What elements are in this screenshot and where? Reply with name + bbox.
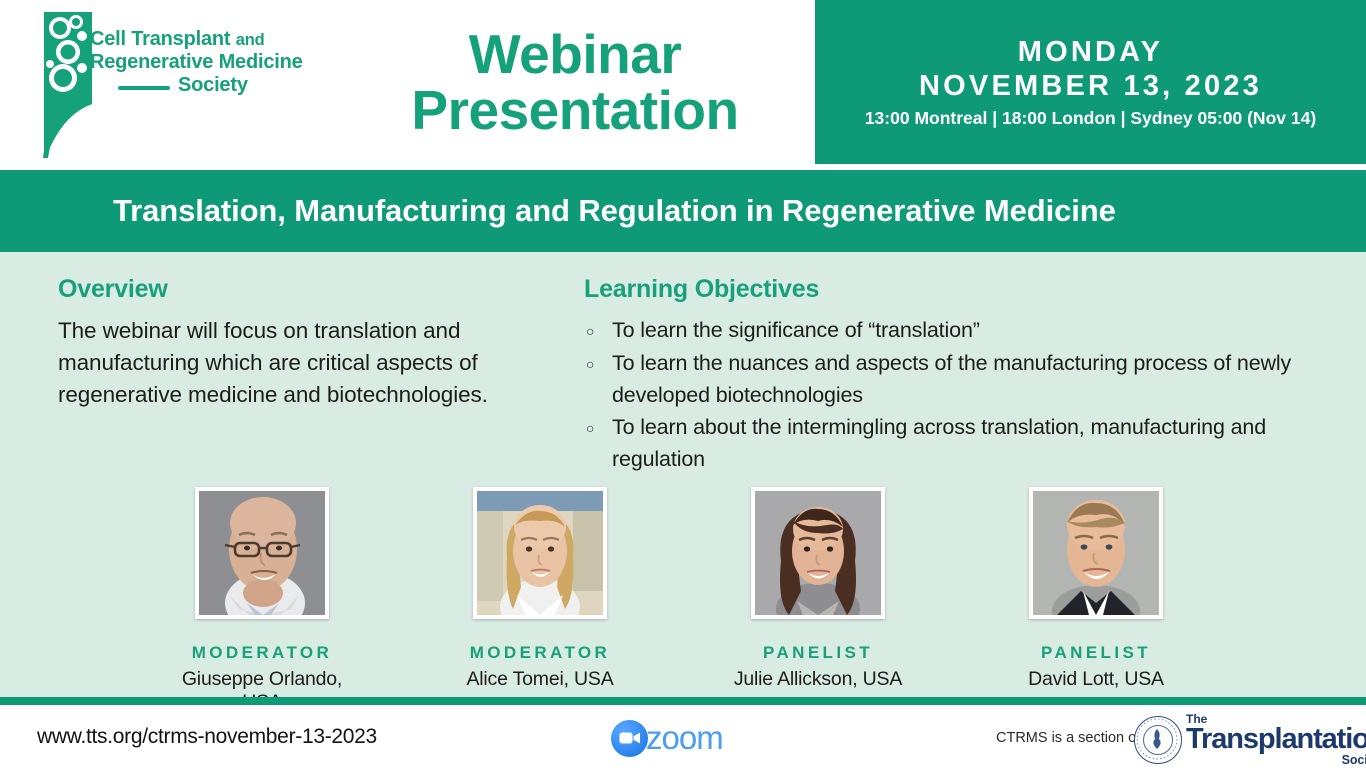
objectives-heading: Learning Objectives — [584, 275, 1324, 304]
speaker-name: Julie Allickson, USA — [723, 668, 913, 691]
tts-society-label: Society — [1186, 754, 1366, 767]
footer-divider — [0, 697, 1366, 705]
topic-banner: Translation, Manufacturing and Regulatio… — [0, 170, 1366, 252]
ctrms-logo-text: Cell Transplant and Regenerative Medicin… — [90, 28, 340, 98]
topic-banner-title: Translation, Manufacturing and Regulatio… — [113, 193, 1116, 229]
ctrms-section-note: CTRMS is a section of — [996, 730, 1140, 746]
overview-heading: Overview — [58, 275, 558, 304]
overview-section: Overview The webinar will focus on trans… — [58, 275, 558, 411]
logo-line-2: Regenerative Medicine — [90, 51, 340, 74]
speaker-card: MODERATOR Giuseppe Orlando, USA — [167, 487, 357, 714]
zoom-logo: zoom — [611, 719, 723, 757]
speaker-card: MODERATOR Alice Tomei, USA — [445, 487, 635, 691]
speaker-name: David Lott, USA — [1001, 668, 1191, 691]
video-camera-glyph-icon — [619, 731, 641, 745]
seal-figure-icon — [1135, 717, 1179, 761]
zoom-video-camera-icon — [611, 720, 648, 757]
footer: www.tts.org/ctrms-november-13-2023 zoom … — [0, 705, 1366, 768]
ctrms-logo: Cell Transplant and Regenerative Medicin… — [30, 8, 335, 158]
header: Cell Transplant and Regenerative Medicin… — [0, 0, 1366, 164]
list-item: To learn about the intermingling across … — [584, 412, 1324, 476]
page-title-line-2: Presentation — [411, 82, 738, 138]
logo-line-1-small: and — [236, 31, 265, 49]
avatar — [1029, 487, 1163, 619]
tts-main-label: Transplantation — [1186, 726, 1366, 753]
speaker-role: PANELIST — [1001, 643, 1191, 663]
body-content: Overview The webinar will focus on trans… — [0, 252, 1366, 697]
logo-line-1-main: Cell Transplant — [90, 28, 230, 50]
avatar — [751, 487, 885, 619]
speaker-name: Alice Tomei, USA — [445, 668, 635, 691]
speaker-role: MODERATOR — [167, 643, 357, 663]
list-item: To learn the nuances and aspects of the … — [584, 348, 1324, 412]
objectives-section: Learning Objectives To learn the signifi… — [584, 275, 1324, 477]
portrait-image — [477, 491, 603, 615]
date-day: MONDAY — [1018, 35, 1163, 69]
date-box: MONDAY NOVEMBER 13, 2023 13:00 Montreal … — [815, 0, 1366, 164]
avatar — [473, 487, 607, 619]
date-full: NOVEMBER 13, 2023 — [919, 69, 1262, 103]
webinar-poster: Cell Transplant and Regenerative Medicin… — [0, 0, 1366, 768]
speaker-card: PANELIST Julie Allickson, USA — [723, 487, 913, 691]
portrait-alice-tomei — [477, 491, 603, 615]
speakers-row: MODERATOR Giuseppe Orlando, USA — [0, 487, 1366, 687]
speaker-role: MODERATOR — [445, 643, 635, 663]
transplantation-society-logo: The Transplantation Society — [1134, 713, 1366, 766]
date-timezones: 13:00 Montreal | 18:00 London | Sydney 0… — [865, 108, 1316, 129]
logo-line-1: Cell Transplant and — [90, 28, 340, 51]
speaker-role: PANELIST — [723, 643, 913, 663]
webinar-url[interactable]: www.tts.org/ctrms-november-13-2023 — [37, 725, 377, 749]
portrait-david-lott — [1033, 491, 1159, 615]
speaker-card: PANELIST David Lott, USA — [1001, 487, 1191, 691]
logo-line-3: Society — [178, 74, 340, 97]
transplantation-society-seal-icon — [1134, 716, 1182, 764]
zoom-wordmark: zoom — [646, 719, 723, 757]
avatar — [195, 487, 329, 619]
objectives-list: To learn the significance of “translatio… — [584, 315, 1324, 476]
portrait-image — [1033, 491, 1159, 615]
portrait-image — [199, 491, 325, 615]
page-title: Webinar Presentation — [340, 0, 810, 164]
tts-wordmark: The Transplantation Society — [1186, 713, 1366, 766]
portrait-image — [755, 491, 881, 615]
page-title-line-1: Webinar — [469, 26, 681, 82]
overview-text: The webinar will focus on translation an… — [58, 315, 558, 411]
portrait-julie-allickson — [755, 491, 881, 615]
list-item: To learn the significance of “translatio… — [584, 315, 1324, 347]
portrait-giuseppe-orlando — [199, 491, 325, 615]
